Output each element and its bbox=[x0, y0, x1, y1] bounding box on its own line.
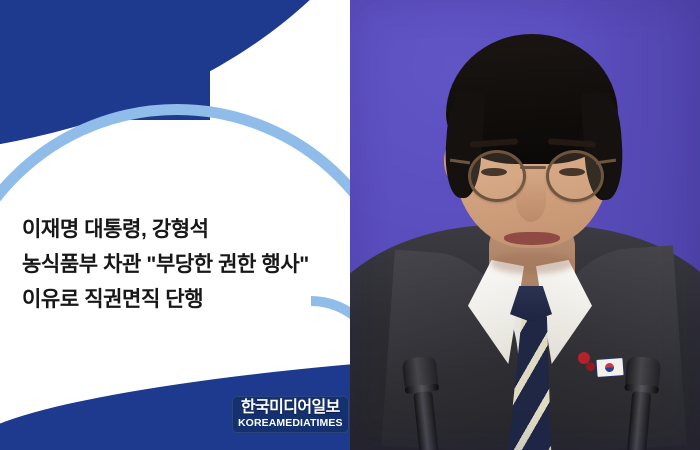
publisher-logo-english: KOREAMEDIATIMES bbox=[238, 417, 343, 429]
headline-line-1: 이재명 대통령, 강형석 bbox=[22, 212, 342, 247]
headline-line-2: 농식품부 차관 "부당한 권한 행사" bbox=[22, 247, 342, 282]
glasses-bridge bbox=[520, 166, 546, 169]
microphone-right-stem bbox=[624, 391, 651, 450]
bottom-blue-wave-fill bbox=[0, 432, 350, 450]
publisher-logo: 한국미디어일보 KOREAMEDIATIMES bbox=[232, 396, 349, 433]
glasses-lens-right bbox=[546, 150, 604, 202]
mouth bbox=[504, 232, 560, 245]
headline-panel: 이재명 대통령, 강형석 농식품부 차관 "부당한 권한 행사" 이유로 직권면… bbox=[0, 0, 350, 450]
headline-line-3: 이유로 직권면직 단행 bbox=[22, 282, 342, 317]
page-title: 이재명 대통령, 강형석 농식품부 차관 "부당한 권한 행사" 이유로 직권면… bbox=[22, 212, 342, 317]
news-card: 이재명 대통령, 강형석 농식품부 차관 "부당한 권한 행사" 이유로 직권면… bbox=[0, 0, 700, 450]
korean-flag-pin-icon bbox=[595, 357, 624, 378]
publisher-logo-korean: 한국미디어일보 bbox=[238, 399, 343, 416]
nose bbox=[516, 178, 546, 222]
microphone-left-stem bbox=[413, 391, 441, 450]
chin-shadow bbox=[490, 252, 574, 274]
rose-pin-secondary-icon bbox=[586, 362, 595, 371]
subject-photo bbox=[350, 0, 700, 450]
